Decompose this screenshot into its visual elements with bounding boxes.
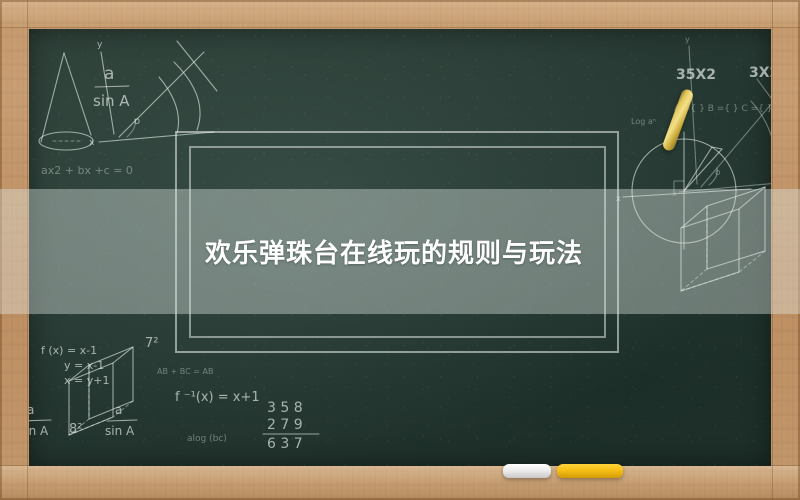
wood-ledge-sheen (0, 466, 800, 500)
label-3x2: 3X2 (749, 65, 771, 81)
svg-text:2 7 9: 2 7 9 (267, 417, 303, 433)
svg-text:f (x) = x-1: f (x) = x-1 (41, 344, 97, 357)
arithmetic-column: 3 5 8 2 7 9 6 3 7 (263, 400, 319, 452)
frame-bevel-top (0, 27, 800, 28)
fraction-a-sina-bottomleft-2: a sin A (105, 403, 137, 438)
svg-text:y = x-1: y = x-1 (64, 359, 104, 372)
log-corner-label: Log aⁿ (631, 117, 656, 126)
chalk-dust-texture (29, 29, 771, 466)
function-equations: f (x) = x-1 y = x-1 x = y+1 (41, 344, 109, 387)
wireframe-cube-right (681, 187, 765, 291)
wireframe-cube-left (69, 347, 133, 435)
svg-text:x: x (616, 194, 621, 203)
exponent-8-squared: 8² (69, 422, 82, 437)
svg-text:a: a (104, 64, 114, 84)
svg-text:sin A: sin A (105, 424, 135, 438)
svg-text:3 5 8: 3 5 8 (267, 400, 303, 416)
alog-bc: alog (bc) (187, 434, 227, 444)
svg-text:o: o (715, 168, 721, 178)
angle-diagram-topleft: y x o (89, 40, 217, 148)
fraction-a-sina-topleft: a sin A (93, 64, 130, 110)
label-35x2: 35X2 (676, 67, 716, 83)
fraction-a-sina-bottomleft-1: a sin A (29, 403, 51, 438)
angle-diagram-topright: y x o (672, 35, 771, 198)
cone-drawing (39, 53, 93, 150)
inverse-function: f ⁻¹(x) = x+1 (175, 390, 260, 405)
chalkboard-surface: a sin A ax2 + bx +c = 0 y x (29, 29, 771, 466)
svg-text:x: x (672, 189, 677, 198)
blackboard-frame: a sin A ax2 + bx +c = 0 y x (0, 0, 800, 500)
svg-text:sin A: sin A (29, 424, 49, 438)
svg-text:a: a (29, 403, 34, 417)
svg-text:o: o (134, 116, 140, 127)
circle-axes-diagram: y x (616, 120, 751, 249)
svg-text:y: y (97, 40, 103, 50)
svg-text:sin A: sin A (93, 92, 130, 110)
chalk-stick-tray-yellow (557, 464, 623, 478)
chalk-stick-tray-white (503, 464, 551, 478)
svg-text:y: y (685, 35, 690, 44)
quadratic-formula: ax2 + bx +c = 0 (41, 164, 133, 177)
frame-bevel-right (772, 0, 773, 500)
svg-text:6 3 7: 6 3 7 (267, 436, 303, 452)
segment-relation: AB + BC = AB (157, 367, 213, 376)
svg-text:x = y+1: x = y+1 (64, 374, 109, 387)
exponent-7-squared: 7² (145, 336, 158, 351)
wood-top-sheen (0, 0, 800, 28)
svg-text:x: x (89, 138, 95, 148)
frame-bevel-left (27, 0, 28, 500)
svg-text:a: a (115, 403, 122, 417)
chalk-drawings-layer: a sin A ax2 + bx +c = 0 y x (29, 29, 771, 466)
